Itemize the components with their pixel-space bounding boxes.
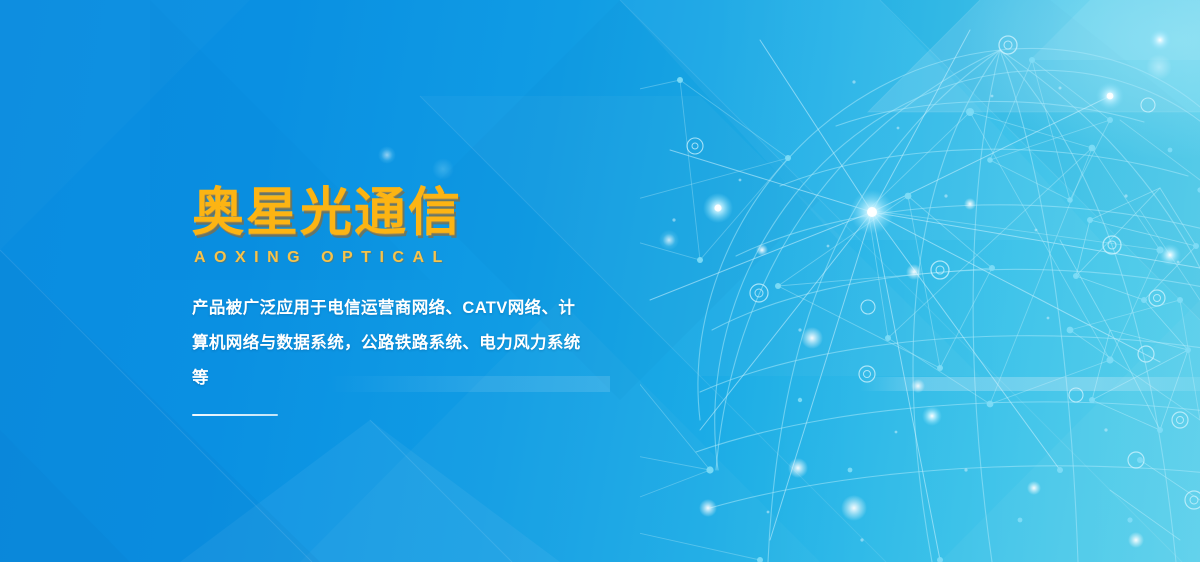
brand-title-en: AOXING OPTICAL (194, 249, 712, 267)
brand-title-cn: 奥星光通信 (192, 186, 712, 241)
network-globe-graphic (640, 0, 1200, 562)
hero-banner: 奥星光通信 AOXING OPTICAL 产品被广泛应用于电信运营商网络、CAT… (0, 0, 1200, 562)
hero-description: 产品被广泛应用于电信运营商网络、CATV网络、计算机网络与数据系统，公路铁路系统… (192, 291, 592, 396)
network-globe-svg (640, 0, 1200, 562)
accent-divider (192, 414, 278, 416)
hero-content: 奥星光通信 AOXING OPTICAL 产品被广泛应用于电信运营商网络、CAT… (192, 186, 712, 416)
